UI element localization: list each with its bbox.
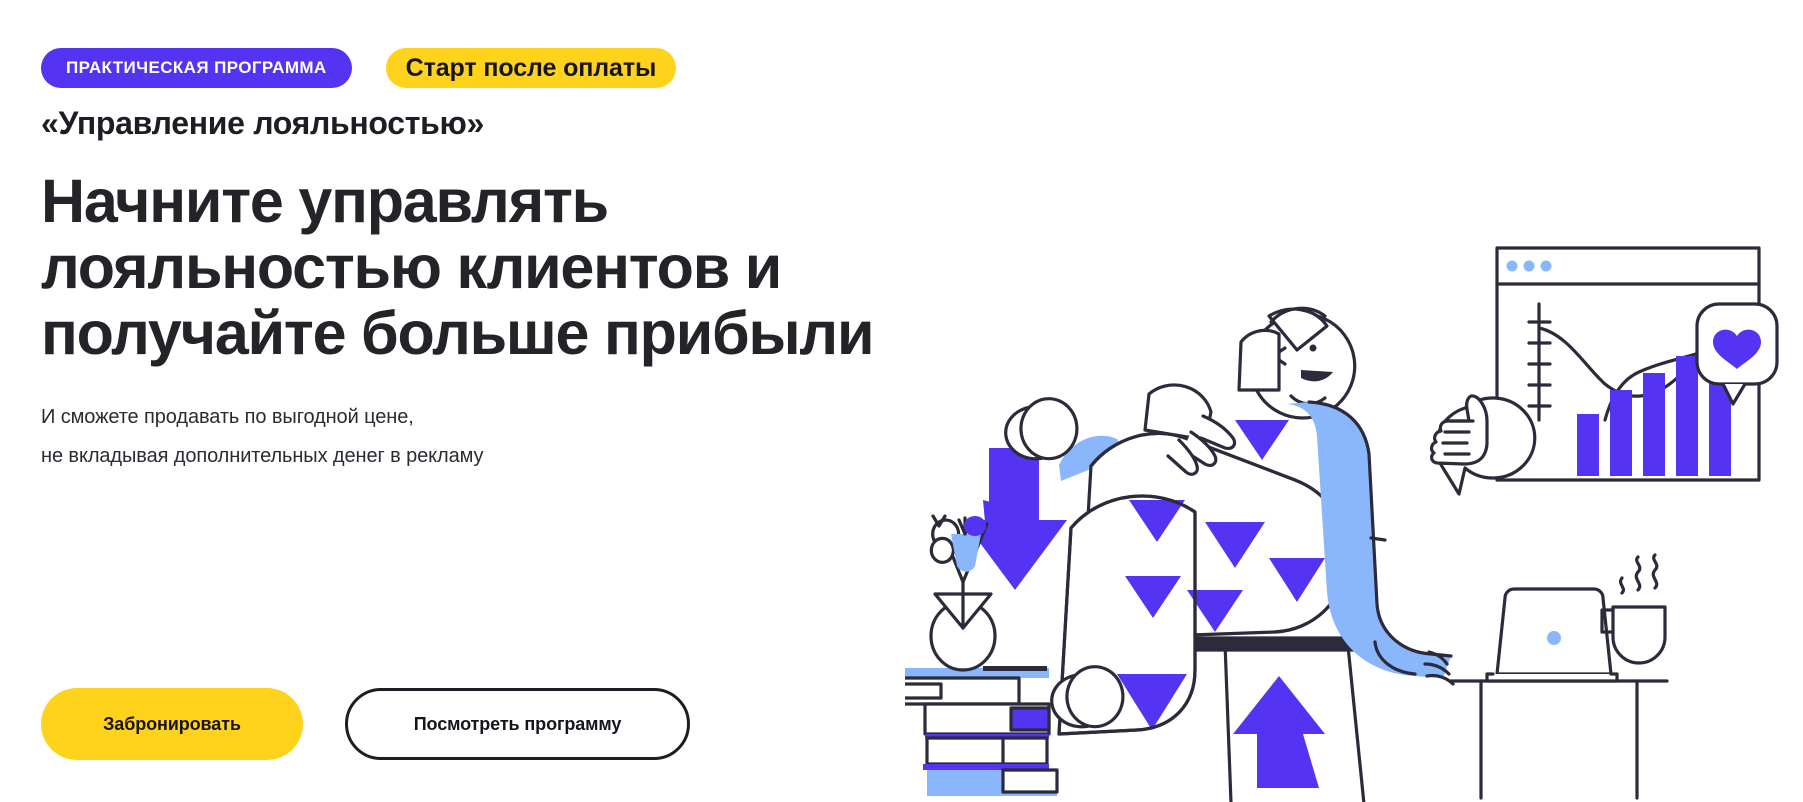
page-title: Начните управлять лояльностью клиентов и… (41, 169, 941, 367)
hero-subcopy: И сможете продавать по выгодной цене, не… (41, 398, 1041, 476)
badge-practical-program: ПРАКТИЧЕСКАЯ ПРОГРАММА (41, 48, 352, 88)
plant-vase (931, 500, 1013, 670)
browser-dots (1507, 261, 1552, 272)
hero-section: ПРАКТИЧЕСКАЯ ПРОГРАММА Старт после оплат… (0, 0, 1803, 802)
illustration-svg (905, 238, 1785, 802)
steam-icon (1621, 555, 1657, 593)
book-stack (905, 666, 1057, 796)
subcopy-line-2: не вкладывая дополнительных денег в рекл… (41, 437, 1041, 476)
view-program-button[interactable]: Посмотреть программу (345, 688, 690, 760)
program-name: «Управление лояльностью» (41, 105, 1041, 142)
badge-row: ПРАКТИЧЕСКАЯ ПРОГРАММА Старт после оплат… (41, 48, 1041, 88)
book-button[interactable]: Забронировать (41, 688, 303, 760)
headline-line-3: получайте больше прибыли (41, 301, 941, 367)
badge-start-after-payment: Старт после оплаты (386, 48, 677, 88)
subcopy-line-1: И сможете продавать по выгодной цене, (41, 398, 1041, 437)
cta-row: Забронировать Посмотреть программу (41, 688, 690, 760)
hair-bun (1239, 330, 1279, 390)
backdrop-arrow-bottom (1233, 676, 1325, 788)
laptop (1487, 589, 1617, 681)
shoe-top (1006, 399, 1077, 459)
hero-illustration (905, 238, 1785, 802)
coffee-cup (1602, 555, 1665, 663)
hero-copy: ПРАКТИЧЕСКАЯ ПРОГРАММА Старт после оплат… (41, 48, 1041, 476)
desk (1451, 681, 1667, 798)
headline-line-1: Начните управлять (41, 169, 941, 235)
headline-line-2: лояльностью клиентов и (41, 235, 941, 301)
